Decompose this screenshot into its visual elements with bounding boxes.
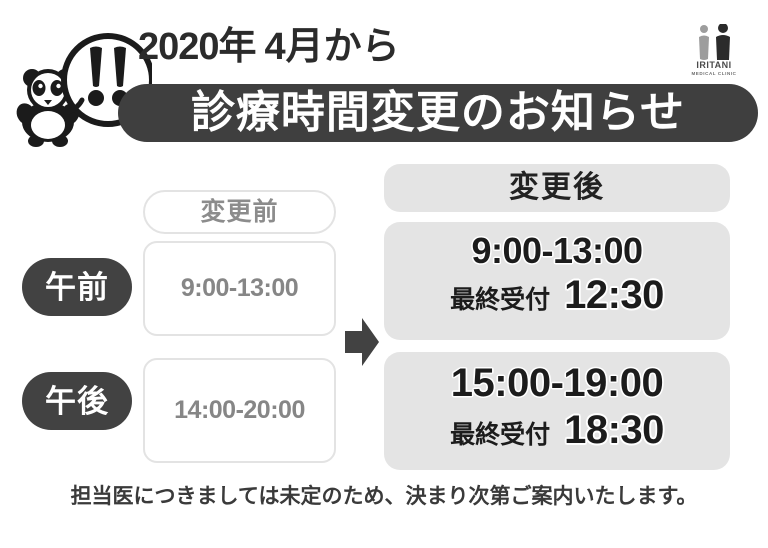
before-time-afternoon-value: 14:00-20:00 xyxy=(174,398,305,423)
footer-note: 担当医につきましては未定のため、決まり次第ご案内いたします。 xyxy=(71,485,698,508)
after-morning-last-label: 最終受付 xyxy=(450,288,550,313)
after-time-afternoon-range: 15:00-19:00 xyxy=(384,358,730,408)
before-change-header: 変更前 xyxy=(143,190,336,234)
slot-badge-afternoon-label: 午後 xyxy=(45,386,109,417)
clinic-logo-name: IRITANI xyxy=(683,61,745,70)
after-change-label: 変更後 xyxy=(509,173,605,203)
before-change-label: 変更前 xyxy=(200,200,278,225)
after-afternoon-last-label: 最終受付 xyxy=(450,423,550,448)
poster-title-banner: 診療時間変更のお知らせ xyxy=(118,84,758,142)
effective-year: 2020年 xyxy=(138,26,256,68)
effective-month: 4月から xyxy=(265,26,400,68)
poster-title: 診療時間変更のお知らせ xyxy=(191,91,685,135)
clinic-logo-subtitle: MEDICAL CLINIC xyxy=(683,72,745,77)
after-time-afternoon: 15:00-19:00 最終受付 18:30 xyxy=(384,352,730,470)
after-morning-last-time: 12:30 xyxy=(564,275,664,315)
after-morning-last-reception: 最終受付 12:30 xyxy=(384,275,730,315)
slot-badge-afternoon: 午後 xyxy=(22,372,132,430)
poster-header: 2020年4月から 診療時間変更のお知らせ IRITANI MEDICAL CL… xyxy=(0,0,768,152)
poster-footer: 担当医につきましては未定のため、決まり次第ご案内いたします。 xyxy=(0,486,768,508)
after-change-header: 変更後 xyxy=(384,164,730,212)
after-afternoon-last-time: 18:30 xyxy=(564,410,664,450)
right-arrow-icon xyxy=(345,318,379,366)
before-time-afternoon: 14:00-20:00 xyxy=(143,358,336,463)
after-time-morning: 9:00-13:00 最終受付 12:30 xyxy=(384,222,730,340)
effective-date-line: 2020年4月から xyxy=(138,28,400,66)
clinic-logo: IRITANI MEDICAL CLINIC xyxy=(683,24,745,80)
clinic-hours-change-poster: 2020年4月から 診療時間変更のお知らせ IRITANI MEDICAL CL… xyxy=(0,0,768,548)
after-afternoon-last-reception: 最終受付 18:30 xyxy=(384,410,730,450)
after-time-morning-range: 9:00-13:00 xyxy=(384,228,730,273)
clinic-logo-mark xyxy=(683,24,745,60)
slot-badge-morning: 午前 xyxy=(22,258,132,316)
slot-badge-morning-label: 午前 xyxy=(45,272,109,303)
before-time-morning-value: 9:00-13:00 xyxy=(181,276,298,301)
before-time-morning: 9:00-13:00 xyxy=(143,241,336,336)
